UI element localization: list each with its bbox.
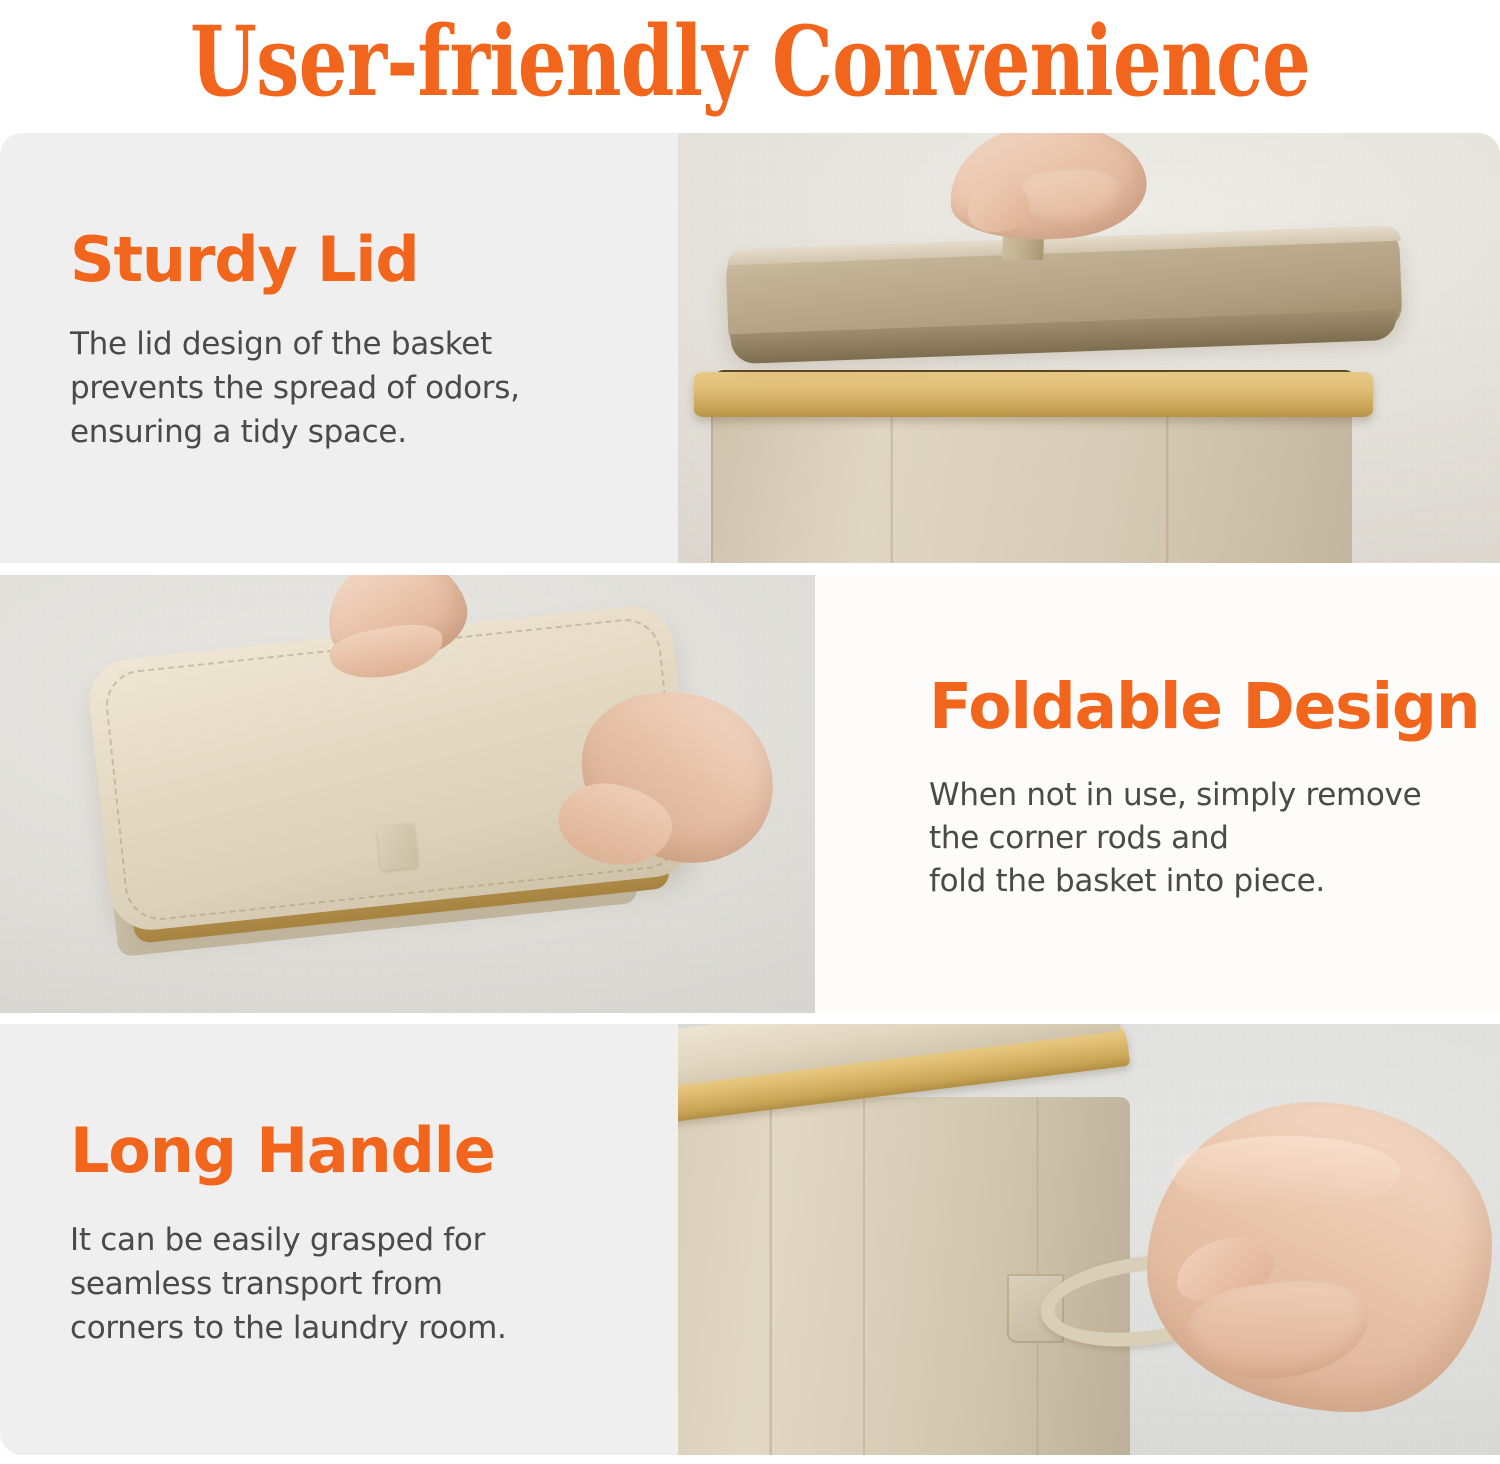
- feature-photo-pane-long-handle: [678, 1024, 1500, 1455]
- feature-body-sturdy-lid: The lid design of the basket prevents th…: [70, 322, 608, 454]
- feature-text-pane-foldable-design: Foldable Design When not in use, simply …: [815, 575, 1500, 1013]
- basket-bamboo-rim: [694, 372, 1372, 417]
- feature-heading-sturdy-lid: Sturdy Lid: [70, 228, 608, 292]
- feature-row-foldable-design: Foldable Design When not in use, simply …: [0, 575, 1500, 1013]
- feature-row-long-handle: Long Handle It can be easily grasped for…: [0, 1024, 1500, 1455]
- product-photo-folded-flat: [0, 575, 815, 1013]
- basket-fabric-body: [711, 404, 1352, 563]
- page-title: User-friendly Convenience: [190, 14, 1310, 110]
- page-title-bar: User-friendly Convenience: [0, 0, 1500, 124]
- product-photo-lid-lift: [678, 133, 1500, 563]
- infographic-page: User-friendly Convenience Sturdy Lid The…: [0, 0, 1500, 1464]
- feature-text-pane-long-handle: Long Handle It can be easily grasped for…: [0, 1024, 678, 1455]
- feature-photo-pane-foldable-design: [0, 575, 815, 1013]
- feature-row-sturdy-lid: Sturdy Lid The lid design of the basket …: [0, 133, 1500, 563]
- feature-heading-foldable-design: Foldable Design: [929, 674, 1500, 740]
- feature-photo-pane-sturdy-lid: [678, 133, 1500, 563]
- basket-fabric-seams: [711, 404, 1352, 563]
- feature-heading-long-handle: Long Handle: [70, 1119, 608, 1183]
- hand-knuckles: [1171, 1136, 1401, 1209]
- product-photo-side-handle: [678, 1024, 1500, 1455]
- folded-panel-tab: [377, 823, 419, 870]
- feature-body-long-handle: It can be easily grasped for seamless tr…: [70, 1218, 608, 1350]
- feature-text-pane-sturdy-lid: Sturdy Lid The lid design of the basket …: [0, 133, 678, 563]
- feature-body-foldable-design: When not in use, simply remove the corne…: [929, 774, 1500, 904]
